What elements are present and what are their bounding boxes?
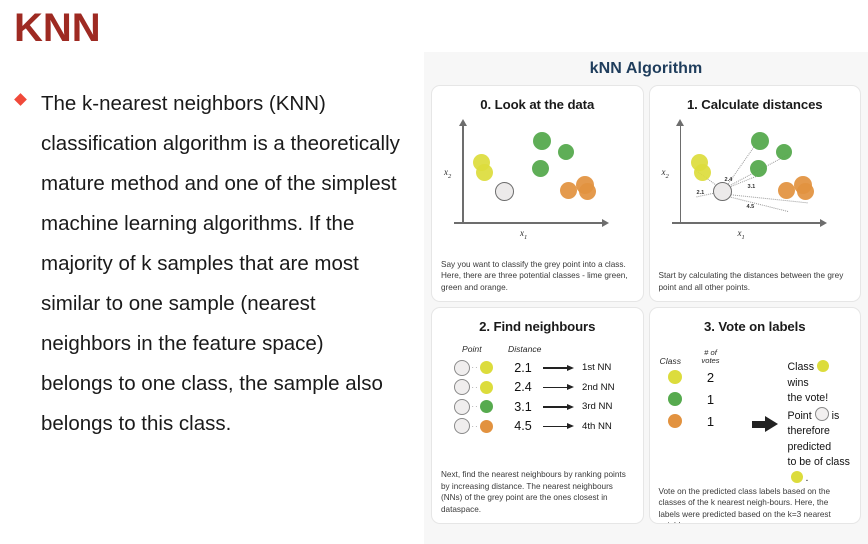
table-row: ·· 3.1 3rd NN (454, 397, 643, 417)
distance-value: 2.4 (503, 380, 543, 394)
neighbour-point-icon (480, 400, 493, 413)
result-wins-word: wins (788, 377, 809, 389)
y-axis (462, 124, 464, 224)
distance-label-2-1: 2.1 (697, 190, 705, 196)
panel-find-neighbours: 2. Find neighbours Point Distance ·· 2.1… (431, 307, 644, 524)
vote-layout: Class # of votes 2 1 (650, 334, 861, 486)
y-axis-label: x2 (444, 167, 451, 180)
table-row: 1 (660, 388, 752, 410)
distance-value: 3.1 (503, 400, 543, 414)
column-header-distance: Distance (508, 344, 541, 354)
query-point-icon (454, 379, 470, 395)
neighbour-point-icon (480, 361, 493, 374)
panel-caption: Say you want to classify the grey point … (432, 259, 643, 301)
rank-label: 1st NN (582, 362, 611, 373)
query-point-icon (454, 399, 470, 415)
panel-caption: Next, find the nearest neighbours by ran… (432, 469, 643, 523)
data-point-green (558, 144, 574, 160)
result-class-phrase: to be of class (788, 456, 850, 468)
distance-label-4-5: 4.5 (747, 204, 755, 210)
rank-label: 3rd NN (582, 401, 612, 412)
column-header-class: Class (660, 356, 694, 366)
data-point-lime (476, 164, 493, 181)
arrow-right-bold-icon (752, 411, 782, 437)
data-point-green (751, 132, 769, 150)
query-point-icon (454, 418, 470, 434)
class-dot-orange-icon (668, 414, 682, 428)
panel-caption: Vote on the predicted class labels based… (650, 486, 861, 524)
vote-count: 1 (694, 392, 728, 407)
neighbour-point-icon (480, 381, 493, 394)
table-row: ·· 2.4 2nd NN (454, 378, 643, 398)
panel-body: x2 x1 (432, 112, 643, 259)
arrow-right-icon (543, 422, 577, 431)
panel-caption: Start by calculating the distances betwe… (650, 270, 861, 301)
data-point-green (532, 160, 549, 177)
result-line-3: Pointis (788, 407, 853, 425)
data-point-orange (778, 182, 795, 199)
neighbour-point-icon (480, 420, 493, 433)
dotted-connector-icon: ·· (470, 383, 480, 392)
knn-infographic: kNN Algorithm 0. Look at the data x2 x1 (424, 52, 868, 544)
neighbours-table-rows: ·· 2.1 1st NN ·· 2.4 2nd NN (432, 358, 643, 436)
x-axis-label: x1 (520, 228, 527, 241)
column-header-votes: # of votes (694, 349, 728, 366)
result-line-1: Classwins (788, 360, 853, 391)
data-point-green (750, 160, 767, 177)
distance-label-3-1: 3.1 (748, 184, 756, 190)
data-point-orange (579, 183, 596, 200)
data-point-orange (560, 182, 577, 199)
query-point-grey (495, 182, 514, 201)
arrow-right-icon (543, 383, 577, 392)
rank-label: 4th NN (582, 421, 612, 432)
bullet-paragraph: The k-nearest neighbors (KNN) classifica… (41, 84, 401, 444)
list-item: The k-nearest neighbors (KNN) classifica… (16, 84, 412, 444)
distance-value: 2.1 (503, 361, 543, 375)
x-axis-label: x1 (738, 228, 745, 241)
panel-calculate-distances: 1. Calculate distances x2 x1 2.4 2.1 (649, 85, 862, 302)
panel-title: 0. Look at the data (432, 86, 643, 112)
panel-title: 2. Find neighbours (432, 308, 643, 334)
table-row: 1 (660, 410, 752, 432)
distance-value: 4.5 (503, 419, 543, 433)
result-class-word: Class (788, 361, 815, 373)
result-period: . (806, 472, 809, 484)
scatter-plot-1: x2 x1 2.4 2.1 3.1 4.5 (650, 112, 861, 270)
rank-label: 2nd NN (582, 382, 615, 393)
diamond-bullet-icon (14, 93, 27, 106)
bullet-list: The k-nearest neighbors (KNN) classifica… (16, 84, 412, 444)
x-axis (672, 222, 822, 224)
data-point-green (533, 132, 551, 150)
class-dot-green-icon (668, 392, 682, 406)
panel-title: 1. Calculate distances (650, 86, 861, 112)
infographic-title: kNN Algorithm (424, 52, 868, 85)
vote-count: 2 (694, 370, 728, 385)
data-point-green (776, 144, 792, 160)
dotted-connector-icon: ·· (470, 422, 480, 431)
page-title: KNN (14, 4, 101, 52)
panel-vote-on-labels: 3. Vote on labels Class # of votes (649, 307, 862, 524)
dotted-connector-icon: ·· (470, 363, 480, 372)
query-point-icon (454, 360, 470, 376)
data-point-lime (694, 164, 711, 181)
panel-look-at-data: 0. Look at the data x2 x1 (431, 85, 644, 302)
x-axis-label-sub: 1 (742, 234, 745, 241)
y-axis (680, 124, 682, 224)
y-axis-label: x2 (662, 167, 669, 180)
table-row: 2 (660, 366, 752, 388)
y-axis-label-sub: 2 (666, 173, 669, 180)
x-axis-label-sub: 1 (524, 234, 527, 241)
panel-body: Point Distance ·· 2.1 1st NN ·· (432, 334, 643, 469)
arrow-right-icon (543, 402, 577, 411)
query-point-grey (713, 182, 732, 201)
predicted-class-dot-icon (791, 471, 803, 483)
column-header-votes-line2: votes (694, 357, 728, 366)
panel-grid: 0. Look at the data x2 x1 (424, 85, 868, 531)
vote-tally: Class # of votes 2 1 (660, 344, 752, 486)
panel-body: x2 x1 2.4 2.1 3.1 4.5 (650, 112, 861, 270)
query-point-dot-icon (815, 407, 829, 421)
result-is-word: is (832, 410, 840, 422)
panel-title: 3. Vote on labels (650, 308, 861, 334)
result-point-word: Point (788, 410, 812, 422)
dotted-connector-icon: ·· (470, 402, 480, 411)
x-axis (454, 222, 604, 224)
result-line-5: to be of class. (788, 455, 853, 486)
table-row: ·· 4.5 4th NN (454, 417, 643, 437)
class-dot-lime-icon (668, 370, 682, 384)
scatter-plot-0: x2 x1 (432, 112, 643, 259)
winning-class-dot-icon (817, 360, 829, 372)
result-line-4: therefore predicted (788, 424, 853, 455)
data-point-orange (797, 183, 814, 200)
column-header-point: Point (462, 344, 508, 354)
panel-body: Class # of votes 2 1 (650, 334, 861, 486)
vote-result-text: Classwins the vote! Pointis therefore pr… (782, 344, 853, 486)
vote-table-header: Class # of votes (660, 344, 752, 366)
y-axis-label-sub: 2 (448, 173, 451, 180)
result-line-2: the vote! (788, 391, 853, 407)
table-row: ·· 2.1 1st NN (454, 358, 643, 378)
neighbours-table-header: Point Distance (432, 344, 643, 354)
vote-count: 1 (694, 414, 728, 429)
arrow-right-icon (543, 363, 577, 372)
